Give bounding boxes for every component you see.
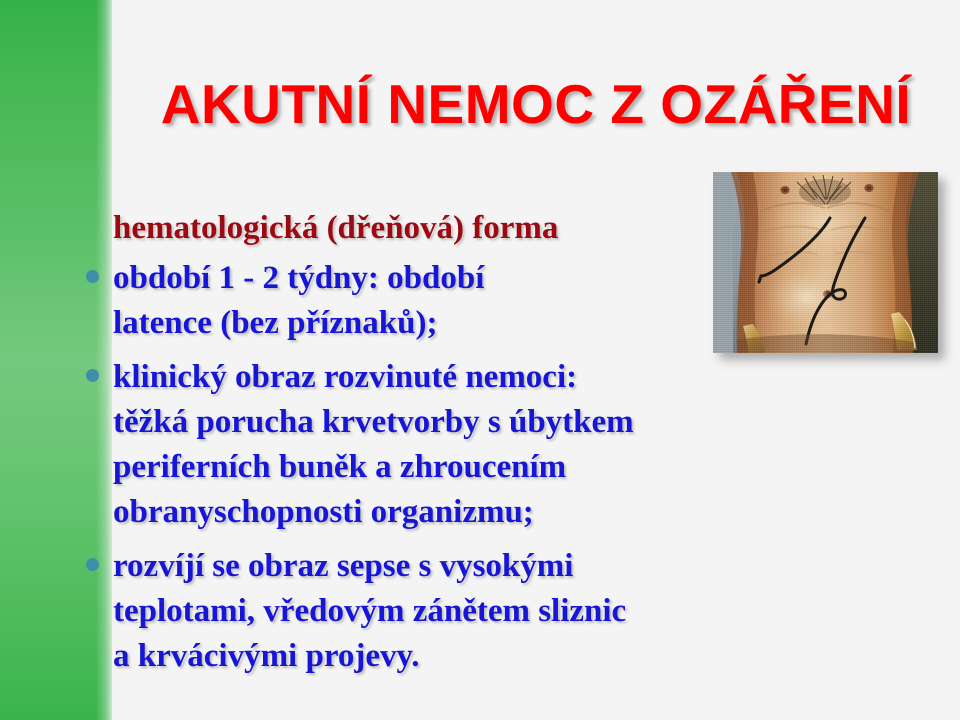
presentation-slide: AKUTNÍ NEMOC Z OZÁŘENÍ hematologická (dř… — [0, 0, 960, 720]
bullet-text-3: rozvíjí se obraz sepse s vysokými teplot… — [113, 544, 774, 679]
bullet-line: periferních buněk a zhroucením — [113, 445, 774, 490]
clinical-photo-image — [713, 172, 938, 353]
bullet-line: teplotami, vředovým zánětem sliznic — [113, 589, 774, 634]
bullet-dot-icon — [86, 558, 99, 571]
bullet-text-1: období 1 - 2 týdny: období latence (bez … — [113, 256, 774, 346]
bullet-item-3: rozvíjí se obraz sepse s vysokými teplot… — [74, 544, 774, 679]
clinical-photo: klinicka-fotografie-trupu-s-kozni-kresbo… — [713, 172, 938, 353]
slide-body: hematologická (dřeňová) forma období 1 -… — [74, 206, 774, 688]
bullet-line: rozvíjí se obraz sepse s vysokými — [113, 544, 774, 589]
bullet-line: a krvácivými projevy. — [113, 634, 774, 679]
bullet-item-2: klinický obraz rozvinuté nemoci: těžká p… — [74, 355, 774, 535]
bullet-list: období 1 - 2 týdny: období latence (bez … — [74, 256, 774, 679]
bullet-dot-icon — [86, 369, 99, 382]
bullet-line: těžká porucha krvetvorby s úbytkem — [113, 400, 774, 445]
bullet-item-1: období 1 - 2 týdny: období latence (bez … — [74, 256, 774, 346]
slide-title: AKUTNÍ NEMOC Z OZÁŘENÍ — [112, 72, 960, 136]
bullet-text-2: klinický obraz rozvinuté nemoci: těžká p… — [113, 355, 774, 535]
bullet-line: obranyschopnosti organizmu; — [113, 490, 774, 535]
bullet-dot-icon — [86, 270, 99, 283]
bullet-line: období 1 - 2 týdny: období — [113, 256, 774, 301]
slide-subtitle: hematologická (dřeňová) forma — [113, 206, 774, 250]
bullet-line: latence (bez příznaků); — [113, 301, 774, 346]
bullet-line: klinický obraz rozvinuté nemoci: — [113, 355, 774, 400]
